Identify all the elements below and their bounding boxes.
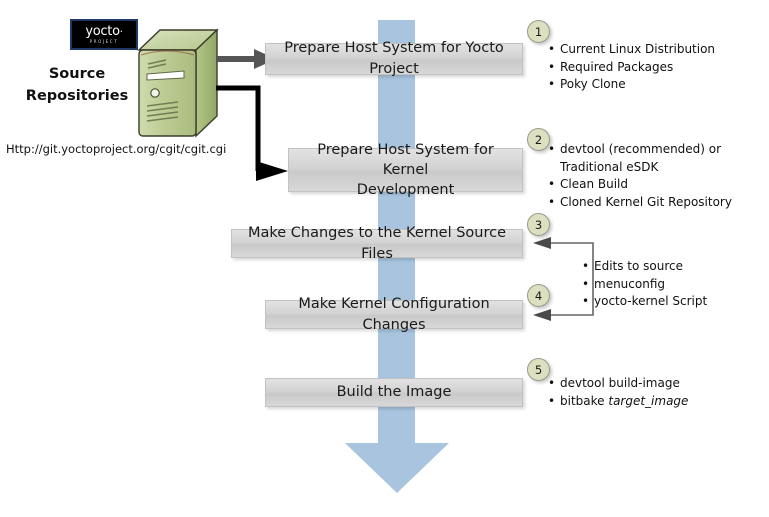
- list-item: devtool build-image: [548, 375, 688, 393]
- yocto-logo-dot: ·: [120, 27, 123, 38]
- list-item: devtool (recommended) or: [548, 141, 732, 159]
- step-3-box[interactable]: Make Changes to the Kernel Source Files: [231, 229, 523, 258]
- step-4-number: 4: [535, 289, 542, 303]
- source-repositories-url: Http://git.yoctoproject.org/cgit/cgit.cg…: [6, 142, 226, 156]
- step-2-box-label-line2: Development: [357, 180, 455, 200]
- yocto-project-logo: yocto· PROJECT: [70, 19, 138, 50]
- bitbake-command: bitbake: [560, 394, 608, 408]
- yocto-logo-text: yocto: [85, 24, 119, 39]
- list-item: Clean Build: [548, 176, 732, 194]
- step-3-badge: 3: [527, 213, 550, 236]
- source-label-line2: Repositories: [16, 85, 138, 107]
- list-item: menuconfig: [582, 276, 707, 294]
- list-item: Cloned Kernel Git Repository: [548, 194, 732, 212]
- step-5-number: 5: [535, 363, 542, 377]
- source-repositories-label: Source Repositories: [16, 63, 138, 107]
- step-4-box[interactable]: Make Kernel Configuration Changes: [265, 300, 523, 329]
- step-2-number: 2: [535, 133, 542, 147]
- list-item: Poky Clone: [548, 76, 715, 94]
- yocto-logo-wordmark: yocto·: [85, 25, 122, 38]
- steps-3-4-shared-bullets: Edits to source menuconfig yocto-kernel …: [582, 258, 707, 311]
- step-4-badge: 4: [527, 284, 550, 307]
- step-4-box-label: Make Kernel Configuration Changes: [272, 294, 516, 336]
- step-5-box-label: Build the Image: [337, 382, 452, 403]
- step-5-box[interactable]: Build the Image: [265, 378, 523, 407]
- step-2-box[interactable]: Prepare Host System for Kernel Developme…: [288, 148, 523, 192]
- step-3-box-label: Make Changes to the Kernel Source Files: [238, 223, 516, 265]
- list-item: Current Linux Distribution: [548, 41, 715, 59]
- list-item: bitbake target_image: [548, 393, 688, 411]
- step-3-number: 3: [535, 218, 542, 232]
- bitbake-target-argument: target_image: [608, 394, 688, 408]
- step-2-bullets: devtool (recommended) or Traditional eSD…: [548, 141, 732, 211]
- diagram-canvas: yocto· PROJECT Source Repositories Http:…: [0, 0, 769, 517]
- step-2-box-label-line1: Prepare Host System for Kernel: [295, 140, 516, 180]
- step-2-badge: 2: [527, 128, 550, 151]
- list-item-continuation: Traditional eSDK: [548, 159, 732, 177]
- list-item: yocto-kernel Script: [582, 293, 707, 311]
- list-item: Required Packages: [548, 59, 715, 77]
- step-1-badge: 1: [527, 20, 550, 43]
- step-5-badge: 5: [527, 358, 550, 381]
- source-label-line1: Source: [16, 63, 138, 85]
- flow-arrow-head: [345, 443, 449, 493]
- yocto-logo-subtext: PROJECT: [90, 40, 118, 44]
- step-1-number: 1: [535, 25, 542, 39]
- step-5-bullets: devtool build-image bitbake target_image: [548, 375, 688, 410]
- step-1-box-label: Prepare Host System for Yocto Project: [272, 38, 516, 80]
- connector-server-to-step2: [216, 82, 290, 182]
- list-item: Edits to source: [582, 258, 707, 276]
- step-1-box[interactable]: Prepare Host System for Yocto Project: [265, 43, 523, 75]
- step-1-bullets: Current Linux Distribution Required Pack…: [548, 41, 715, 94]
- server-tower-icon: [136, 28, 220, 140]
